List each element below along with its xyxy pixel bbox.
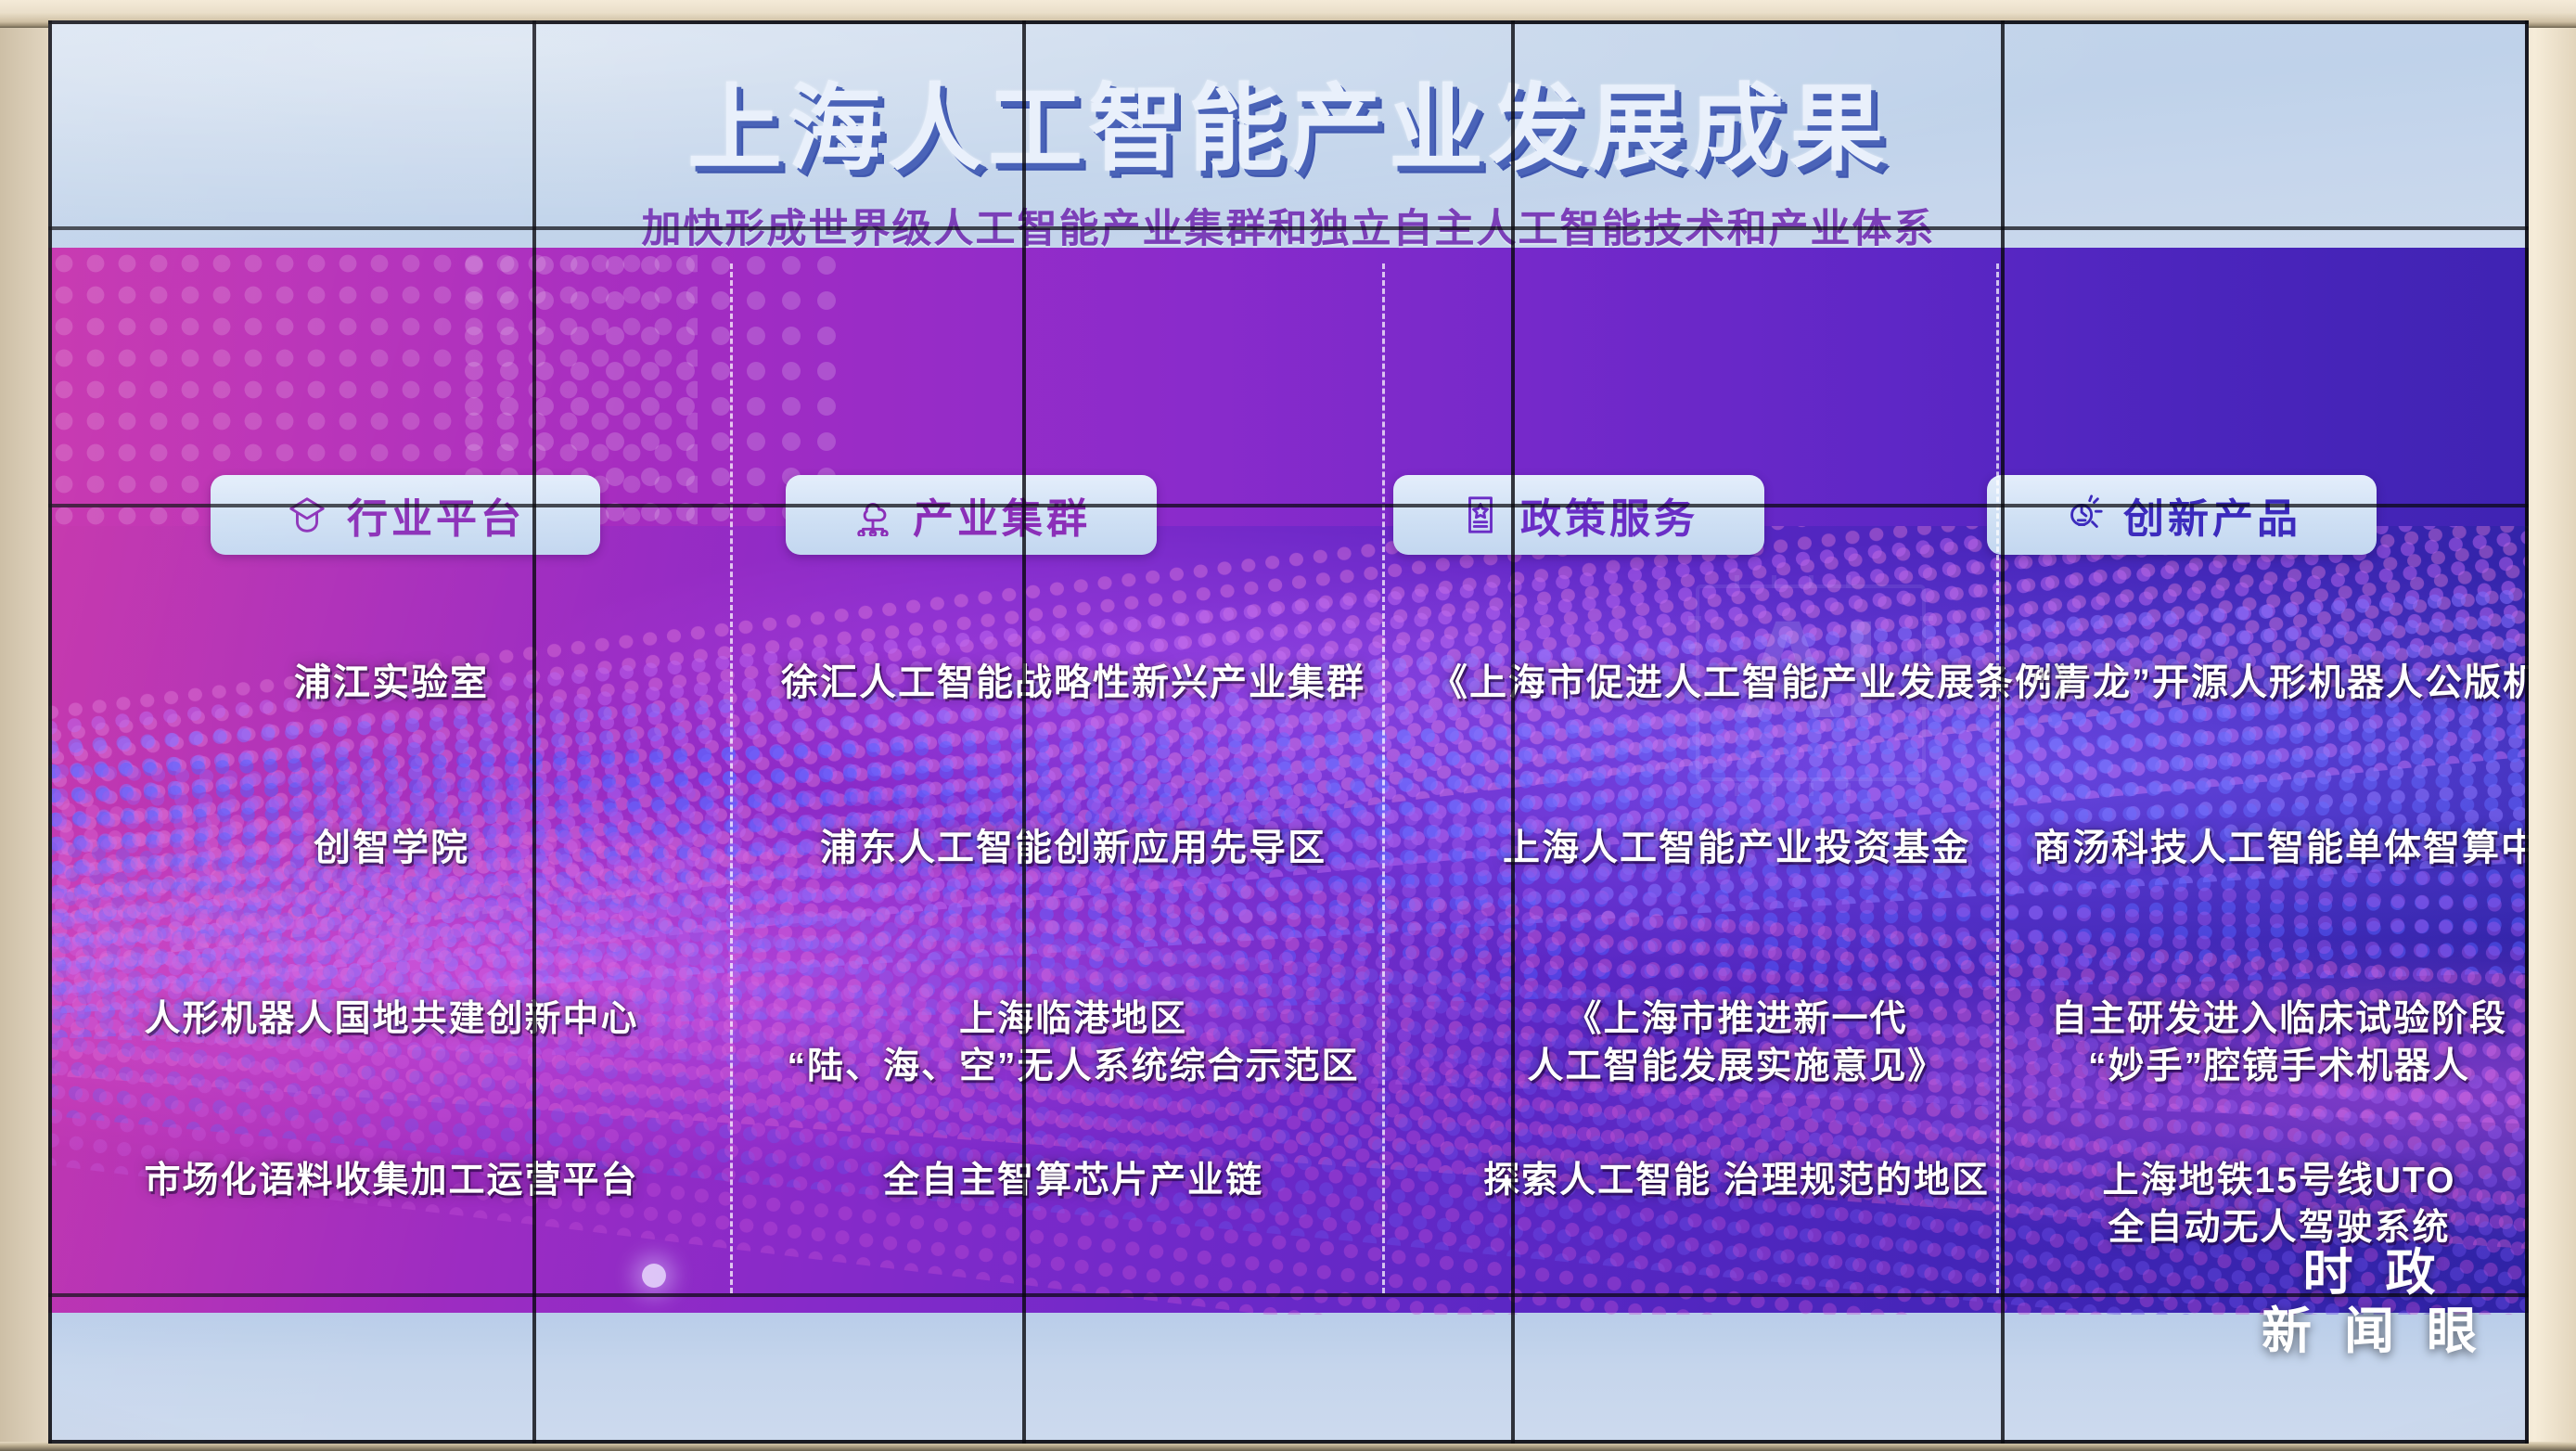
content-item: 《上海市促进人工智能产业发展条例》 bbox=[1430, 659, 2043, 707]
page-title: 上海人工智能产业发展成果 bbox=[48, 82, 2529, 176]
content-line: 上海临港地区 bbox=[725, 996, 1421, 1044]
content-item: “青龙”开源人形机器人公版机 bbox=[2033, 659, 2525, 707]
content-item: 上海地铁15号线UTO 全自动无人驾驶系统 bbox=[2033, 1158, 2525, 1252]
content-line: “青龙”开源人形机器人公版机 bbox=[2033, 659, 2525, 707]
category-pill-label: 创新产品 bbox=[2123, 485, 2301, 545]
content-line: 上海地铁15号线UTO bbox=[2033, 1158, 2525, 1205]
content-line: 市场化语料收集加工运营平台 bbox=[67, 1158, 716, 1205]
content-item: 《上海市推进新一代 人工智能发展实施意见》 bbox=[1430, 996, 2043, 1090]
category-pill-innovative-product[interactable]: 创新产品 bbox=[1987, 475, 2377, 555]
led-video-wall[interactable]: AI 上海人工智能产业发展成果 加快形成世界级人工智能产业集群和独立自主人工智能… bbox=[48, 20, 2529, 1444]
screenshot-stage: AI 上海人工智能产业发展成果 加快形成世界级人工智能产业集群和独立自主人工智能… bbox=[0, 0, 2576, 1451]
category-pill-label: 政策服务 bbox=[1520, 485, 1698, 545]
graduation-cap-icon bbox=[286, 494, 328, 536]
content-item: 全自主智算芯片产业链 bbox=[725, 1158, 1421, 1205]
content-line: 《上海市促进人工智能产业发展条例》 bbox=[1430, 659, 2043, 707]
watermark-line-2: 新 闻 眼 bbox=[2262, 1303, 2486, 1362]
content-item: 徐汇人工智能战略性新兴产业集群 bbox=[725, 659, 1421, 707]
category-pill-label: 产业集群 bbox=[913, 485, 1091, 545]
content-line: “陆、海、空”无人系统综合示范区 bbox=[725, 1044, 1421, 1091]
cloud-network-icon bbox=[852, 494, 894, 536]
category-pill-row: 行业平台 产业集群 bbox=[48, 475, 2529, 559]
content-item: 上海临港地区 “陆、海、空”无人系统综合示范区 bbox=[725, 996, 1421, 1090]
content-line: 浦江实验室 bbox=[67, 659, 716, 707]
content-line: 人形机器人国地共建创新中心 bbox=[67, 996, 716, 1044]
category-pill-label: 行业平台 bbox=[347, 485, 525, 545]
category-pill-industry-platform[interactable]: 行业平台 bbox=[211, 475, 600, 555]
content-item: 浦东人工智能创新应用先导区 bbox=[725, 824, 1421, 872]
content-line: 上海人工智能产业投资基金 bbox=[1430, 824, 2043, 872]
lightbulb-idea-icon bbox=[2062, 494, 2105, 536]
column-separator-3 bbox=[1996, 263, 1999, 1293]
category-pill-policy-service[interactable]: 政策服务 bbox=[1393, 475, 1764, 555]
content-line: 自主研发进入临床试验阶段 bbox=[2033, 996, 2525, 1044]
content-line: 浦东人工智能创新应用先导区 bbox=[725, 824, 1421, 872]
content-line: “妙手”腔镜手术机器人 bbox=[2033, 1044, 2525, 1091]
content-item: 市场化语料收集加工运营平台 bbox=[67, 1158, 716, 1205]
content-line: 全自主智算芯片产业链 bbox=[725, 1158, 1421, 1205]
content-line: 徐汇人工智能战略性新兴产业集群 bbox=[725, 659, 1421, 707]
content-item: 创智学院 bbox=[67, 824, 716, 872]
content-line: 创智学院 bbox=[67, 824, 716, 872]
content-item: 自主研发进入临床试验阶段 “妙手”腔镜手术机器人 bbox=[2033, 996, 2525, 1090]
content-line: 探索人工智能 治理规范的地区 bbox=[1430, 1158, 2043, 1205]
content-item: 浦江实验室 bbox=[67, 659, 716, 707]
watermark-line-1: 时 政 bbox=[2262, 1244, 2486, 1303]
content-line: 《上海市推进新一代 bbox=[1430, 996, 2043, 1044]
content-line: 人工智能发展实施意见》 bbox=[1430, 1044, 2043, 1091]
footer-band bbox=[48, 1313, 2529, 1444]
policy-document-icon bbox=[1459, 494, 1502, 536]
category-pill-industry-cluster[interactable]: 产业集群 bbox=[786, 475, 1157, 555]
channel-watermark: 时 政 新 闻 眼 bbox=[2262, 1244, 2486, 1362]
content-item: 探索人工智能 治理规范的地区 bbox=[1430, 1158, 2043, 1205]
content-item: 人形机器人国地共建创新中心 bbox=[67, 996, 716, 1044]
content-line: 商汤科技人工智能单体智算中心 bbox=[2033, 824, 2525, 872]
page-subtitle: 加快形成世界级人工智能产业集群和独立自主人工智能技术和产业体系 bbox=[48, 197, 2529, 254]
content-item: 商汤科技人工智能单体智算中心 bbox=[2033, 824, 2525, 872]
content-item: 上海人工智能产业投资基金 bbox=[1430, 824, 2043, 872]
column-separator-2 bbox=[1382, 263, 1385, 1293]
column-separator-1 bbox=[730, 263, 733, 1293]
